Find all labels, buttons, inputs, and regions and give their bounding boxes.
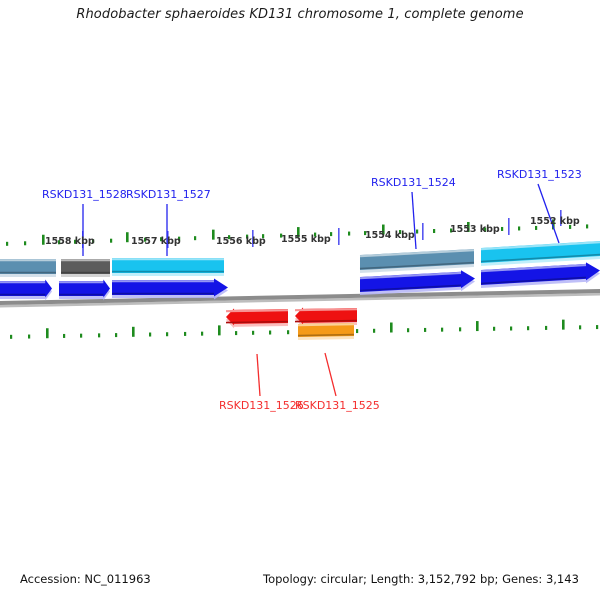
gene-tick-mark bbox=[586, 224, 588, 228]
gene-tick-mark bbox=[194, 236, 196, 240]
feature-cds-1523[interactable] bbox=[481, 262, 600, 288]
gene-tick-mark bbox=[115, 333, 117, 337]
ruler-tick-mark bbox=[422, 223, 424, 240]
gene-tick-mark bbox=[579, 325, 581, 329]
gene-tick-mark bbox=[218, 325, 221, 335]
gene-tick-mark bbox=[441, 328, 443, 332]
gene-label-rskd131_1524[interactable]: RSKD131_1524 bbox=[371, 176, 456, 189]
feature-highlight bbox=[298, 324, 354, 325]
gene-tick-mark bbox=[269, 331, 271, 335]
gene-tick-mark bbox=[527, 326, 529, 330]
gene-tick-mark bbox=[518, 226, 520, 230]
feature-highlight bbox=[295, 309, 357, 310]
gene-tick-mark bbox=[424, 328, 426, 332]
ruler-tick-label: 1558 kbp bbox=[45, 236, 95, 247]
feature-cds-1527[interactable] bbox=[112, 279, 228, 300]
ruler-tick-label: 1557 kbp bbox=[131, 236, 181, 247]
gene-tick-mark bbox=[416, 230, 418, 234]
gene-tick-mark bbox=[184, 332, 186, 336]
gene-tick-mark bbox=[126, 232, 129, 242]
feature-box-1528[interactable] bbox=[61, 259, 110, 277]
feature-cds-1524[interactable] bbox=[360, 270, 475, 295]
gene-label-rskd131_1527[interactable]: RSKD131_1527 bbox=[126, 188, 211, 201]
feature-cds-1528[interactable] bbox=[59, 280, 110, 301]
feature-box-1524[interactable] bbox=[360, 249, 474, 273]
genome-map-canvas: Rhodobacter sphaeroides KD131 chromosome… bbox=[0, 0, 600, 600]
feature-cds-1529[interactable] bbox=[0, 280, 52, 301]
gene-tick-mark bbox=[132, 327, 135, 337]
ruler-tick-label: 1554 kbp bbox=[365, 230, 415, 241]
gene-tick-mark bbox=[562, 320, 565, 330]
gene-tick-mark bbox=[63, 334, 65, 338]
accession-text: Accession: NC_011963 bbox=[20, 572, 151, 586]
gene-tick-mark bbox=[356, 329, 358, 333]
gene-tick-mark bbox=[510, 327, 512, 331]
gene-tick-mark bbox=[212, 230, 215, 240]
label-connector bbox=[257, 354, 260, 396]
feature-box-1523[interactable] bbox=[481, 241, 600, 266]
feature-shadow bbox=[226, 322, 288, 323]
gene-tick-mark bbox=[149, 333, 151, 337]
gene-label-rskd131_1525[interactable]: RSKD131_1525 bbox=[295, 399, 380, 412]
feature-cds-1526[interactable] bbox=[226, 308, 288, 328]
ruler-tick-label: 1556 kbp bbox=[216, 236, 266, 247]
gene-tick-mark bbox=[459, 327, 461, 331]
gene-label-rskd131_1528[interactable]: RSKD131_1528 bbox=[42, 188, 127, 201]
gene-tick-mark bbox=[201, 332, 203, 336]
gene-tick-mark bbox=[476, 321, 479, 331]
gene-tick-mark bbox=[235, 331, 237, 335]
ruler-tick-label: 1555 kbp bbox=[281, 234, 331, 245]
gene-label-rskd131_1526[interactable]: RSKD131_1526 bbox=[219, 399, 304, 412]
gene-tick-mark bbox=[287, 330, 289, 334]
gene-tick-mark bbox=[252, 331, 254, 335]
feature-shadow bbox=[295, 321, 357, 322]
gene-tick-mark bbox=[596, 325, 598, 329]
gene-tick-mark bbox=[166, 332, 168, 336]
ruler-tick-label: 1552 kbp bbox=[530, 216, 580, 227]
gene-tick-mark bbox=[348, 232, 350, 236]
gene-tick-mark bbox=[80, 334, 82, 338]
gene-tick-mark bbox=[407, 328, 409, 332]
genome-diagram bbox=[0, 0, 600, 600]
gene-tick-mark bbox=[28, 335, 30, 339]
gene-tick-mark bbox=[10, 335, 12, 339]
gene-tick-mark bbox=[46, 328, 49, 338]
feature-shadow bbox=[298, 335, 354, 336]
genome-stats-text: Topology: circular; Length: 3,152,792 bp… bbox=[263, 572, 579, 586]
gene-tick-mark bbox=[110, 239, 112, 243]
gene-tick-mark bbox=[373, 329, 375, 333]
gene-tick-mark bbox=[390, 323, 393, 333]
gene-tick-mark bbox=[493, 327, 495, 331]
gene-tick-mark bbox=[6, 242, 8, 246]
feature-box-1529-partial[interactable] bbox=[0, 259, 56, 277]
ruler-tick-label: 1553 kbp bbox=[450, 224, 500, 235]
label-connector bbox=[538, 184, 559, 243]
gene-tick-mark bbox=[24, 241, 26, 245]
feature-track bbox=[0, 241, 600, 340]
feature-box-1525-rna[interactable] bbox=[298, 323, 354, 340]
gene-tick-mark bbox=[433, 229, 435, 233]
label-connector bbox=[325, 353, 336, 396]
gene-tick-mark bbox=[545, 326, 547, 330]
gene-tick-mark bbox=[501, 227, 503, 231]
gene-label-rskd131_1523[interactable]: RSKD131_1523 bbox=[497, 168, 582, 181]
ruler-tick-mark bbox=[508, 218, 510, 235]
feature-highlight bbox=[226, 310, 288, 311]
ruler-tick-mark bbox=[338, 228, 340, 245]
gene-tick-mark bbox=[98, 333, 100, 337]
feature-box-1527[interactable] bbox=[112, 258, 224, 276]
